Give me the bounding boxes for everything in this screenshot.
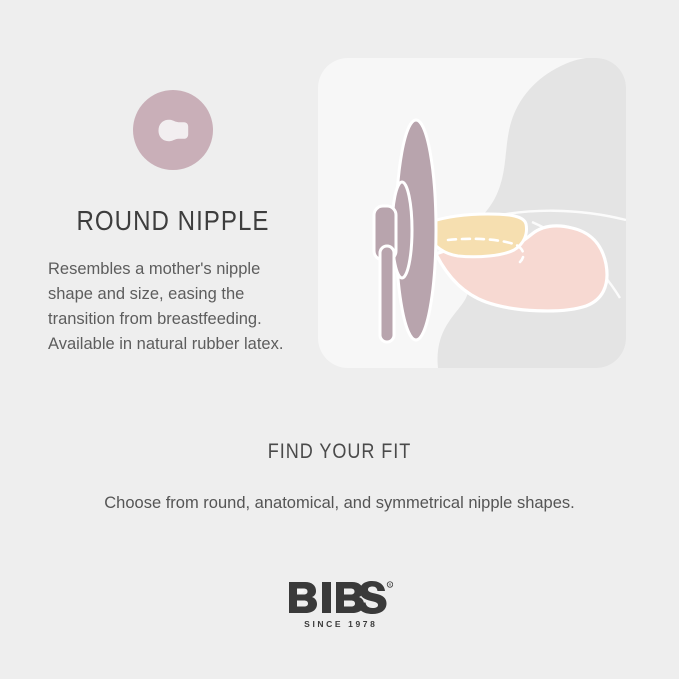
heart-icon [297,589,304,594]
brand-logo: R SINCE 1978 [0,580,679,629]
svg-text:R: R [388,583,391,587]
feature-icon-wrap [48,88,298,172]
find-your-fit-title: FIND YOUR FIT [48,440,632,464]
feature-description: Resembles a mother's nipple shape and si… [48,257,298,357]
find-your-fit-section: FIND YOUR FIT Choose from round, anatomi… [0,440,679,513]
feature-title: ROUND NIPPLE [66,206,281,237]
head-silhouette [438,58,627,368]
illustration-panel [318,58,626,368]
find-your-fit-subtitle: Choose from round, anatomical, and symme… [0,494,679,513]
infographic-canvas: ROUND NIPPLE Resembles a mother's nipple… [0,0,679,679]
bibs-wordmark: R [287,580,393,614]
logo-tagline: SINCE 1978 [302,619,378,629]
round-nipple-shape-icon [131,88,215,172]
pacifier-in-mouth-illustration [318,58,626,368]
nipple-tip [430,214,527,257]
feature-column: ROUND NIPPLE Resembles a mother's nipple… [48,88,298,357]
pacifier-handle-stem [380,246,394,342]
